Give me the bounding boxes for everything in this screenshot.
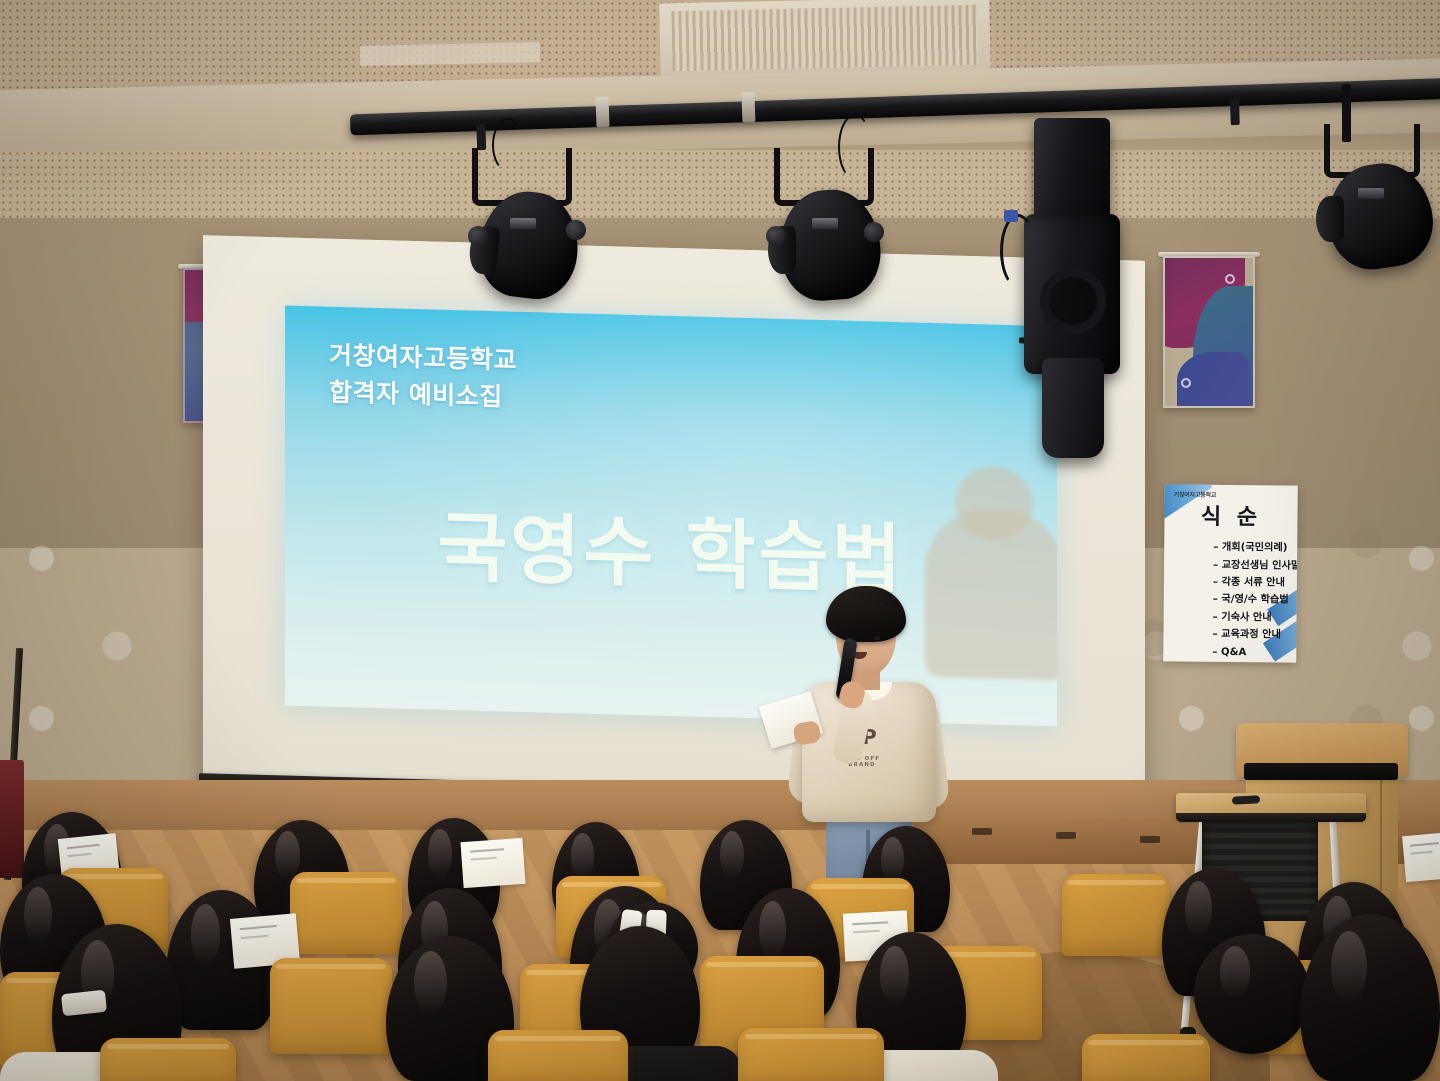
audience-area: [0, 806, 1440, 1081]
poster-heading: 식 순: [1164, 498, 1297, 531]
slide-subtitle: 거창여자고등학교 합격자 예비소집: [329, 337, 517, 416]
truss-clamp-2: [741, 92, 755, 122]
auditorium-seat: [488, 1030, 628, 1081]
poster-item: 각종 서류 안내: [1213, 578, 1291, 589]
decorative-banner-right: [1163, 256, 1255, 408]
poster-schedule-list: 개회(국민의례) 교장선생님 인사말 각종 서류 안내 국/영/수 학습법 기숙…: [1172, 543, 1291, 663]
poster-item: 교장선생님 인사말: [1213, 560, 1291, 571]
auditorium-seat: [1062, 874, 1170, 956]
hair-clip: [61, 990, 107, 1016]
truss-hook-2: [1230, 99, 1240, 125]
auditorium-seat: [100, 1038, 236, 1081]
stage-light-1: [462, 140, 592, 310]
banner-dot-bottom: [1181, 378, 1191, 388]
schedule-poster: 거창여자고등학교 식 순 개회(국민의례) 교장선생님 인사말 각종 서류 안내…: [1163, 484, 1298, 662]
moving-head-cable: [1000, 214, 1036, 288]
auditorium-seat: [1082, 1034, 1210, 1081]
truss-clamp-1: [596, 97, 610, 127]
poster-item: 교육과정 안내: [1212, 630, 1290, 641]
moving-head-ring: [1040, 268, 1106, 334]
poster-item: Q&A: [1212, 647, 1290, 658]
light-lens-4: [1316, 196, 1344, 242]
lectern-front-slot: [1244, 763, 1398, 780]
poster-school-name: 거창여자고등학교: [1174, 490, 1217, 499]
light-badge-2: [812, 218, 838, 229]
light-knob-1a: [468, 226, 488, 246]
light-cable-2: [838, 114, 872, 180]
moving-head-light: [1018, 118, 1126, 456]
poster-item: 국/영/수 학습법: [1213, 595, 1291, 606]
light-knob-2b: [864, 222, 884, 242]
poster-item: 개회(국민의례): [1213, 543, 1291, 554]
light-knob-1b: [566, 220, 586, 240]
light-badge-1: [510, 218, 536, 229]
banner-dot-top: [1225, 274, 1235, 284]
handout-sheet: [1402, 832, 1440, 882]
ceiling-strip: [360, 42, 540, 66]
presenter-eye-right: [874, 637, 880, 640]
handout-sheet: [460, 838, 525, 888]
audience-head-bun: [1194, 934, 1310, 1054]
stage-light-4: [1318, 130, 1440, 275]
auditorium-seat: [738, 1028, 884, 1081]
light-badge-4: [1358, 188, 1384, 199]
auditorium-seat: [270, 958, 392, 1054]
light-cable-1: [492, 118, 524, 172]
auditorium-seat: [290, 872, 402, 954]
poster-item: 기숙사 안내: [1213, 613, 1291, 624]
marker-pen-on-table: [1232, 795, 1260, 804]
moving-head-power-plug: [1004, 210, 1018, 222]
light-knob-2a: [766, 226, 786, 246]
stage-light-2: [764, 142, 894, 312]
moving-head-barrel: [1042, 358, 1104, 458]
projection-screen: 거창여자고등학교 합격자 예비소집 국영수 학습법: [203, 235, 1145, 800]
auditorium-photo: 거창여자고등학교 합격자 예비소집 국영수 학습법: [0, 0, 1440, 1081]
